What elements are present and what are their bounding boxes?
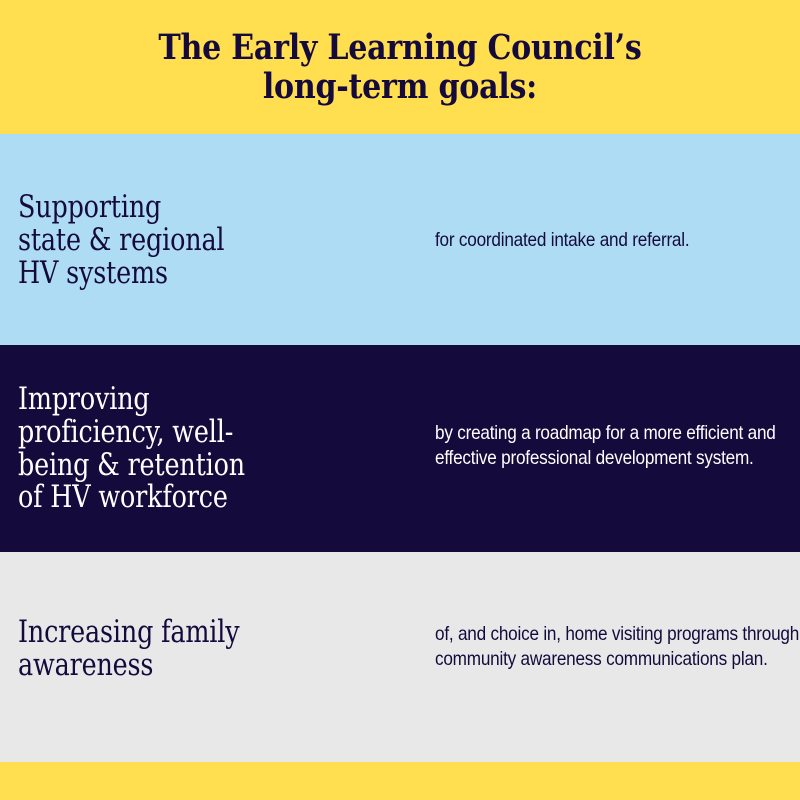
goal-heading: Improving proficiency, well- being & ret… — [18, 383, 367, 514]
goal-description: for coordinated intake and referral. — [435, 228, 800, 253]
goal-description: by creating a roadmap for a more efficie… — [435, 421, 800, 471]
goal-heading: Supporting state & regional HV systems — [18, 191, 367, 290]
goal-row-increasing-family-awareness: Increasing family awareness of, and choi… — [0, 552, 800, 762]
goal-row-improving-hv-workforce: Improving proficiency, well- being & ret… — [0, 345, 800, 552]
infographic-poster: The Early Learning Council’s long-term g… — [0, 0, 800, 800]
footer-band — [0, 762, 800, 800]
goal-heading: Increasing family awareness — [18, 616, 367, 682]
goal-row-supporting-hv-systems: Supporting state & regional HV systems f… — [0, 134, 800, 345]
page-title: The Early Learning Council’s long-term g… — [158, 28, 641, 106]
goal-description: of, and choice in, home visiting program… — [435, 622, 800, 672]
header-band: The Early Learning Council’s long-term g… — [0, 0, 800, 134]
